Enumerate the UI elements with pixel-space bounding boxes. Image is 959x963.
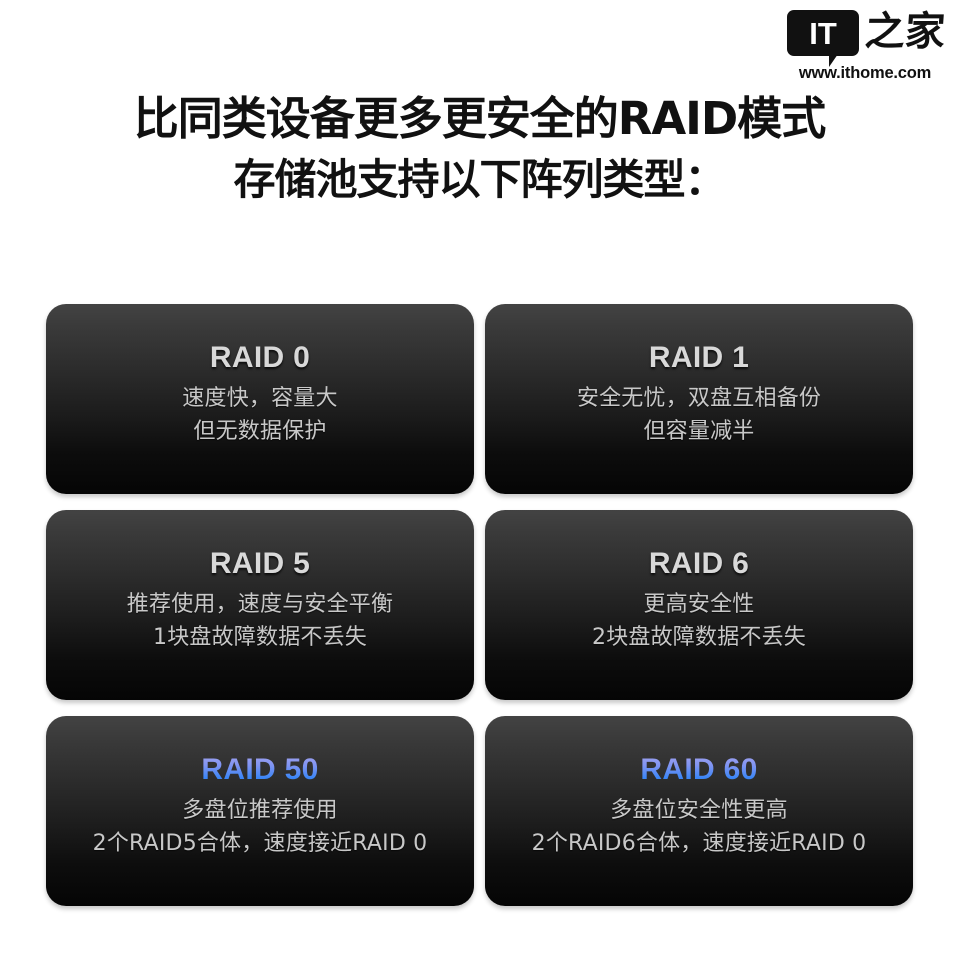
raid-card-line-2: 但容量减半 (643, 415, 754, 448)
raid-card-line-1: 更高安全性 (643, 588, 754, 621)
headline-line-1: 比同类设备更多更安全的RAID模式 (0, 88, 959, 150)
logo-mark-text: IT (809, 18, 837, 49)
raid-card-title: RAID 5 (210, 546, 310, 582)
raid-card-line-1: 多盘位安全性更高 (610, 794, 788, 827)
raid-card-line-2: 2个RAID6合体，速度接近RAID 0 (532, 827, 867, 860)
raid-card: RAID 1 安全无忧，双盘互相备份 但容量减半 (485, 304, 913, 494)
raid-card-title: RAID 0 (210, 340, 310, 376)
logo-url: www.ithome.com (785, 65, 945, 82)
raid-card-title: RAID 60 (640, 752, 757, 788)
raid-card-line-2: 1块盘故障数据不丢失 (153, 621, 367, 654)
raid-card-line-2: 但无数据保护 (193, 415, 326, 448)
raid-card-line-2: 2块盘故障数据不丢失 (592, 621, 806, 654)
raid-card-line-2: 2个RAID5合体，速度接近RAID 0 (93, 827, 428, 860)
headline-line-2: 存储池支持以下阵列类型： (0, 150, 959, 210)
raid-card-line-1: 推荐使用，速度与安全平衡 (127, 588, 393, 621)
raid-card: RAID 50 多盘位推荐使用 2个RAID5合体，速度接近RAID 0 (46, 716, 474, 906)
raid-card-title: RAID 1 (649, 340, 749, 376)
logo-chinese-text: 之家 (863, 10, 946, 54)
speech-bubble-icon: IT (787, 10, 859, 56)
page-title: 比同类设备更多更安全的RAID模式 存储池支持以下阵列类型： (0, 88, 959, 210)
raid-card: RAID 60 多盘位安全性更高 2个RAID6合体，速度接近RAID 0 (485, 716, 913, 906)
raid-card-line-1: 安全无忧，双盘互相备份 (577, 382, 821, 415)
logo-mark: IT 之家 (785, 10, 945, 60)
raid-card-title: RAID 50 (201, 752, 318, 788)
raid-card: RAID 5 推荐使用，速度与安全平衡 1块盘故障数据不丢失 (46, 510, 474, 700)
site-logo: IT 之家 www.ithome.com (785, 10, 945, 82)
raid-card-grid: RAID 0 速度快，容量大 但无数据保护 RAID 1 安全无忧，双盘互相备份… (46, 304, 913, 906)
raid-card-line-1: 多盘位推荐使用 (182, 794, 337, 827)
raid-card-title: RAID 6 (649, 546, 749, 582)
raid-card-line-1: 速度快，容量大 (182, 382, 337, 415)
raid-card: RAID 6 更高安全性 2块盘故障数据不丢失 (485, 510, 913, 700)
raid-card: RAID 0 速度快，容量大 但无数据保护 (46, 304, 474, 494)
